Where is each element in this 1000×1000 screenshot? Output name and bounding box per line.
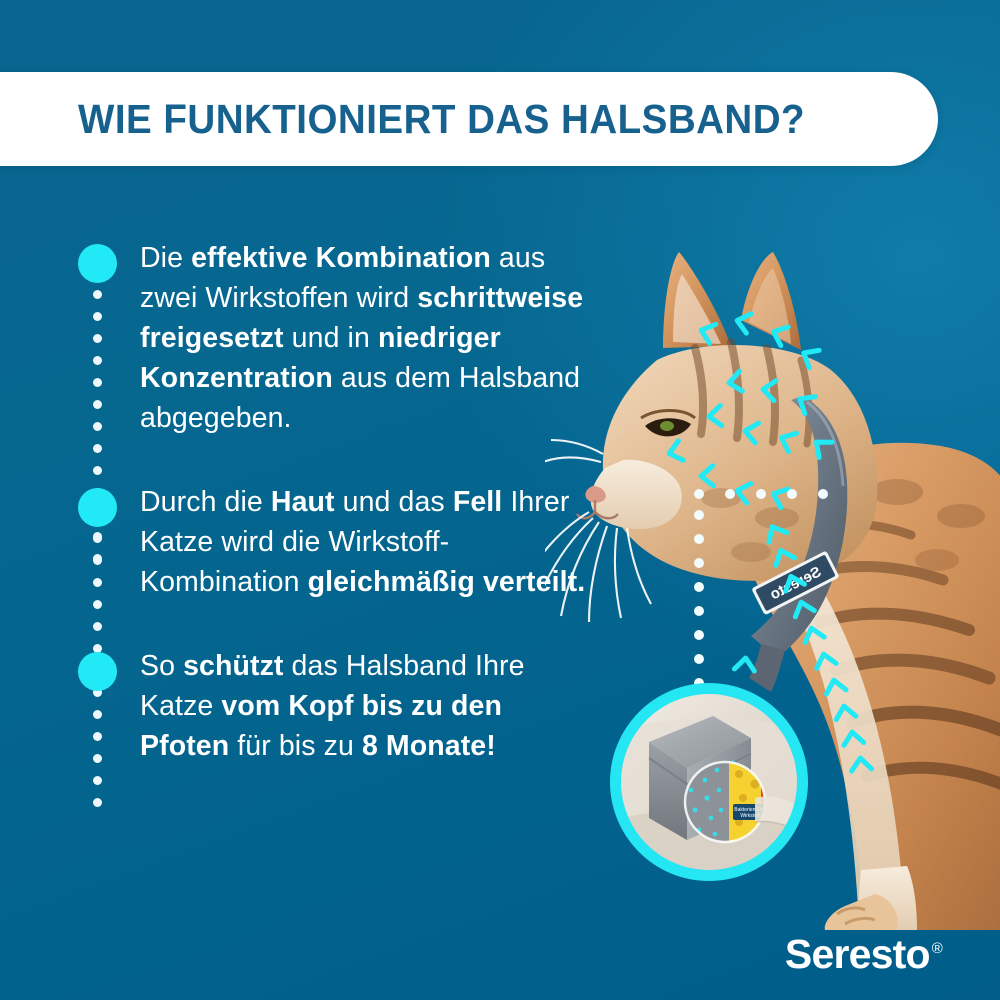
bullet-protection: So schützt das Halsband Ihre Katze vom K… <box>78 646 598 766</box>
bullet-release: Die effektive Kombination aus zwei Wirks… <box>78 238 598 438</box>
bullet-text-2: Durch die Haut und das Fell Ihrer Katze … <box>140 482 598 602</box>
seresto-logo: Seresto® <box>785 931 942 978</box>
bullet-text-3: So schützt das Halsband Ihre Katze vom K… <box>140 646 598 766</box>
bullet-list: Die effektive Kombination aus zwei Wirks… <box>78 238 598 766</box>
bullet-marker-3 <box>78 646 140 691</box>
bullet-distribution: Durch die Haut und das Fell Ihrer Katze … <box>78 482 598 602</box>
bullet-dot-icon <box>78 652 117 691</box>
bullet-marker-1 <box>78 238 140 283</box>
bullet-dot-icon <box>78 488 117 527</box>
page-title: WIE FUNKTIONIERT DAS HALSBAND? <box>78 96 805 143</box>
collar-cross-section-zoom: Bakterien/Eier Wirkstoff <box>610 683 808 881</box>
magnifier-content: Bakterien/Eier Wirkstoff <box>621 694 797 870</box>
bullet-text-1: Die effektive Kombination aus zwei Wirks… <box>140 238 598 438</box>
bullet-dot-icon <box>78 244 117 283</box>
connector-dots-horizontal <box>694 489 828 499</box>
trademark-symbol: ® <box>932 940 942 957</box>
title-banner: WIE FUNKTIONIERT DAS HALSBAND? <box>0 72 938 166</box>
logo-wordmark: Seresto <box>785 931 930 977</box>
bullet-marker-2 <box>78 482 140 527</box>
infographic-poster: Seresto <box>0 0 1000 1000</box>
